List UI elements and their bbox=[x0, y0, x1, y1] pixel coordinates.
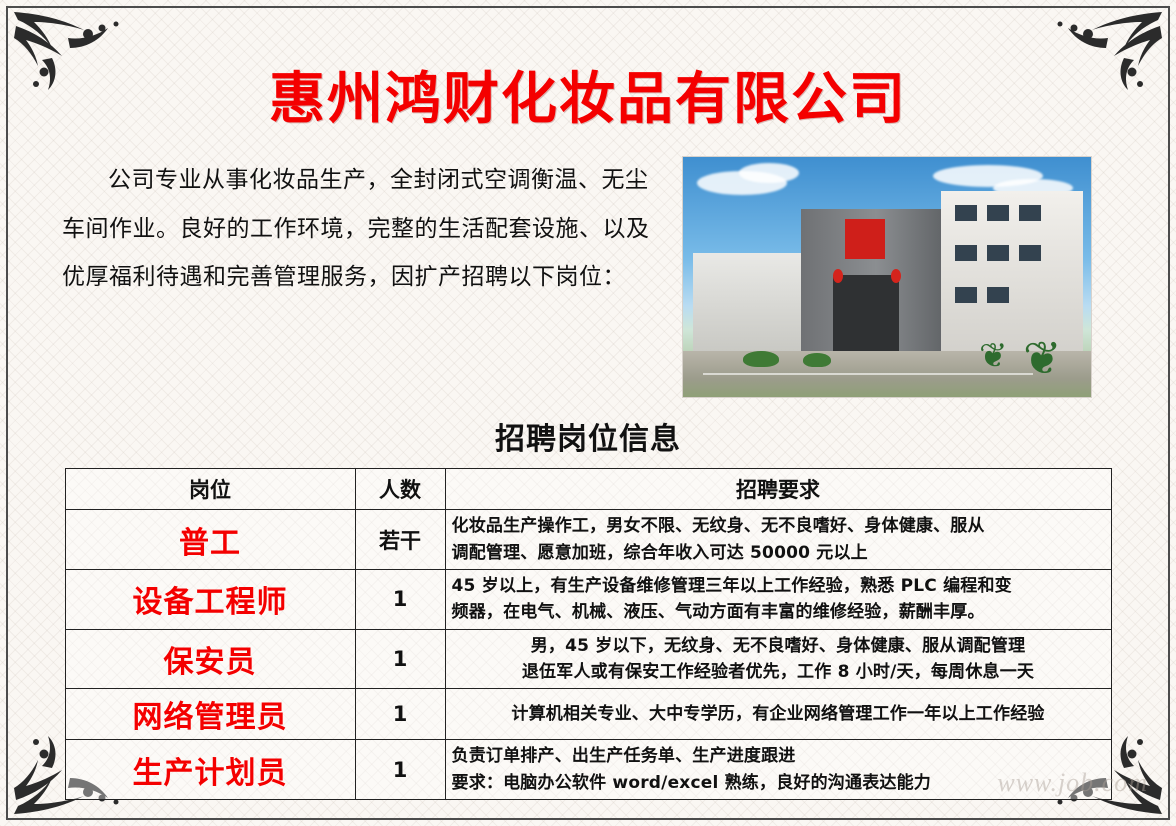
column-header-requirement: 招聘要求 bbox=[445, 469, 1111, 510]
table-header-row: 岗位 人数 招聘要求 bbox=[65, 469, 1111, 510]
factory-photo: ❦ ❦ bbox=[682, 156, 1092, 398]
requirement-line: 负责订单排产、出生产任务单、生产进度跟进 bbox=[452, 743, 1105, 769]
intro-section: 公司专业从事化妆品生产，全封闭式空调衡温、无尘车间作业。良好的工作环境，完整的生… bbox=[58, 156, 1118, 398]
shrub-shape bbox=[803, 353, 831, 367]
table-row: 网络管理员 1 计算机相关专业、大中专学历，有企业网络管理工作一年以上工作经验 bbox=[65, 689, 1111, 740]
window-shape bbox=[955, 205, 977, 221]
column-header-count: 人数 bbox=[355, 469, 445, 510]
job-count: 1 bbox=[355, 740, 445, 800]
requirement-line: 要求：电脑办公软件 word/excel 熟练，良好的沟通表达能力 bbox=[452, 770, 1105, 796]
window-shape bbox=[987, 245, 1009, 261]
job-count: 1 bbox=[355, 570, 445, 630]
job-count: 1 bbox=[355, 689, 445, 740]
window-shape bbox=[987, 287, 1009, 303]
window-shape bbox=[987, 205, 1009, 221]
job-requirement: 计算机相关专业、大中专学历，有企业网络管理工作一年以上工作经验 bbox=[445, 689, 1111, 740]
job-post: 生产计划员 bbox=[65, 740, 355, 800]
job-requirement: 45 岁以上，有生产设备维修管理三年以上工作经验，熟悉 PLC 编程和变 频器，… bbox=[445, 570, 1111, 630]
table-row: 普工 若干 化妆品生产操作工，男女不限、无纹身、无不良嗜好、身体健康、服从 调配… bbox=[65, 510, 1111, 570]
job-requirement: 化妆品生产操作工，男女不限、无纹身、无不良嗜好、身体健康、服从 调配管理、愿意加… bbox=[445, 510, 1111, 570]
cloud-shape bbox=[739, 163, 799, 183]
job-post: 保安员 bbox=[65, 629, 355, 689]
table-row: 生产计划员 1 负责订单排产、出生产任务单、生产进度跟进 要求：电脑办公软件 w… bbox=[65, 740, 1111, 800]
window-shape bbox=[955, 287, 977, 303]
requirement-line: 调配管理、愿意加班，综合年收入可达 50000 元以上 bbox=[452, 540, 1105, 566]
requirement-line: 计算机相关专业、大中专学历，有企业网络管理工作一年以上工作经验 bbox=[452, 701, 1105, 727]
window-shape bbox=[1019, 205, 1041, 221]
job-requirement: 男，45 岁以下，无纹身、无不良嗜好、身体健康、服从调配管理 退伍军人或有保安工… bbox=[445, 629, 1111, 689]
company-intro: 公司专业从事化妆品生产，全封闭式空调衡温、无尘车间作业。良好的工作环境，完整的生… bbox=[58, 156, 670, 301]
window-shape bbox=[955, 245, 977, 261]
table-row: 设备工程师 1 45 岁以上，有生产设备维修管理三年以上工作经验，熟悉 PLC … bbox=[65, 570, 1111, 630]
building-left bbox=[693, 253, 805, 351]
job-post: 普工 bbox=[65, 510, 355, 570]
poster-content: 惠州鸿财化妆品有限公司 公司专业从事化妆品生产，全封闭式空调衡温、无尘车间作业。… bbox=[58, 54, 1118, 800]
job-count: 1 bbox=[355, 629, 445, 689]
job-post: 网络管理员 bbox=[65, 689, 355, 740]
job-count: 若干 bbox=[355, 510, 445, 570]
company-intro-text: 公司专业从事化妆品生产，全封闭式空调衡温、无尘车间作业。良好的工作环境，完整的生… bbox=[62, 156, 670, 301]
column-header-post: 岗位 bbox=[65, 469, 355, 510]
job-requirement: 负责订单排产、出生产任务单、生产进度跟进 要求：电脑办公软件 word/exce… bbox=[445, 740, 1111, 800]
red-banner bbox=[845, 219, 885, 259]
table-row: 保安员 1 男，45 岁以下，无纹身、无不良嗜好、身体健康、服从调配管理 退伍军… bbox=[65, 629, 1111, 689]
requirement-line: 化妆品生产操作工，男女不限、无纹身、无不良嗜好、身体健康、服从 bbox=[452, 513, 1105, 539]
jobs-table: 岗位 人数 招聘要求 普工 若干 化妆品生产操作工，男女不限、无纹身、无不良嗜好… bbox=[65, 468, 1112, 800]
requirement-line: 男，45 岁以下，无纹身、无不良嗜好、身体健康、服从调配管理 bbox=[452, 633, 1105, 659]
shrub-shape bbox=[743, 351, 779, 367]
palm-tree-icon: ❦ bbox=[1023, 335, 1062, 381]
job-post: 设备工程师 bbox=[65, 570, 355, 630]
building-right bbox=[941, 191, 1083, 353]
company-title: 惠州鸿财化妆品有限公司 bbox=[58, 68, 1118, 132]
requirement-line: 45 岁以上，有生产设备维修管理三年以上工作经验，熟悉 PLC 编程和变 bbox=[452, 573, 1105, 599]
requirement-line: 频器，在电气、机械、液压、气动方面有丰富的维修经验，薪酬丰厚。 bbox=[452, 599, 1105, 625]
requirement-line: 退伍军人或有保安工作经验者优先，工作 8 小时/天，每周休息一天 bbox=[452, 659, 1105, 685]
recruitment-poster: 惠州鸿财化妆品有限公司 公司专业从事化妆品生产，全封闭式空调衡温、无尘车间作业。… bbox=[0, 0, 1176, 826]
window-shape bbox=[1019, 245, 1041, 261]
palm-tree-icon: ❦ bbox=[979, 339, 1008, 373]
section-title: 招聘岗位信息 bbox=[58, 414, 1118, 458]
building-entrance bbox=[833, 275, 899, 359]
